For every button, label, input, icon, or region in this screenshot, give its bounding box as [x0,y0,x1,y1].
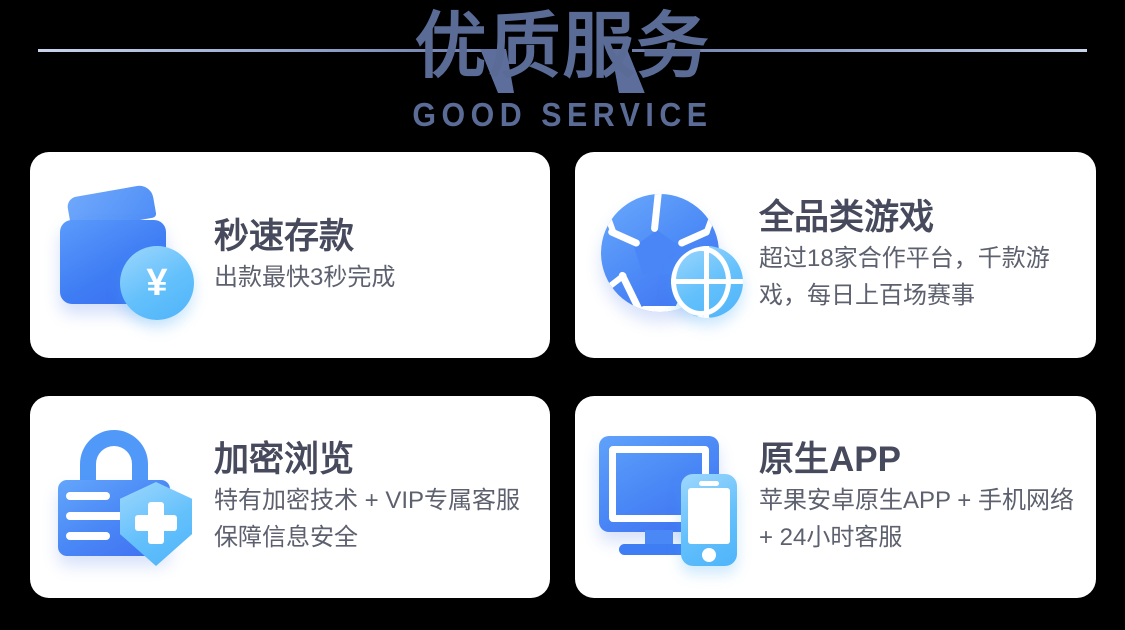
phone-screen [688,488,730,544]
page-subtitle: GOOD SERVICE [45,96,1080,134]
feature-card-all-games[interactable]: 全品类游戏 超过18家合作平台，千款游戏，每日上百场赛事 [575,152,1096,358]
card-description: 出款最快3秒完成 [214,259,395,296]
card-description: 超过18家合作平台，千款游戏，每日上百场赛事 [759,240,1082,314]
banner-header: 优质服务 GOOD SERVICE [0,0,1125,140]
feature-card-instant-deposit[interactable]: ¥ 秒速存款 出款最快3秒完成 [30,152,550,358]
feature-card-text: 秒速存款 出款最快3秒完成 [214,215,409,296]
feature-card-native-app[interactable]: 原生APP 苹果安卓原生APP + 手机网络 + 24小时客服 [575,396,1096,598]
card-title: 秒速存款 [214,215,395,259]
card-title: 原生APP [759,438,1082,482]
lock-shield-icon [48,422,210,572]
padlock-slot [66,492,110,500]
feature-card-text: 原生APP 苹果安卓原生APP + 手机网络 + 24小时客服 [759,438,1096,556]
feature-card-text: 加密浏览 特有加密技术 + VIP专属客服保障信息安全 [214,438,550,556]
card-title: 全品类游戏 [759,196,1082,240]
feature-card-text: 全品类游戏 超过18家合作平台，千款游戏，每日上百场赛事 [759,196,1096,314]
card-description: 特有加密技术 + VIP专属客服保障信息安全 [214,482,536,556]
feature-card-encrypted-browsing[interactable]: 加密浏览 特有加密技术 + VIP专属客服保障信息安全 [30,396,550,598]
card-description: 苹果安卓原生APP + 手机网络 + 24小时客服 [759,482,1082,556]
page-title: 优质服务 [0,4,1125,90]
basketball-icon [671,246,743,318]
basketball-line [671,279,743,284]
soccer-seam [641,306,681,312]
phone-home-button [702,548,716,562]
card-title: 加密浏览 [214,438,536,482]
basketball-arc [671,316,731,318]
padlock-slot [66,532,110,540]
soccer-basketball-icon [593,180,755,330]
wallet-yen-icon: ¥ [48,180,210,330]
phone-speaker [699,481,719,486]
monitor-phone-icon [593,422,755,572]
cross-icon [135,515,177,531]
service-feature-banner: 优质服务 GOOD SERVICE ¥ 秒速存款 出款最快3秒完成 [0,0,1125,630]
soccer-seam [651,194,663,232]
yen-symbol: ¥ [120,246,194,320]
soccer-seam [603,210,618,236]
padlock-slot [66,512,126,520]
